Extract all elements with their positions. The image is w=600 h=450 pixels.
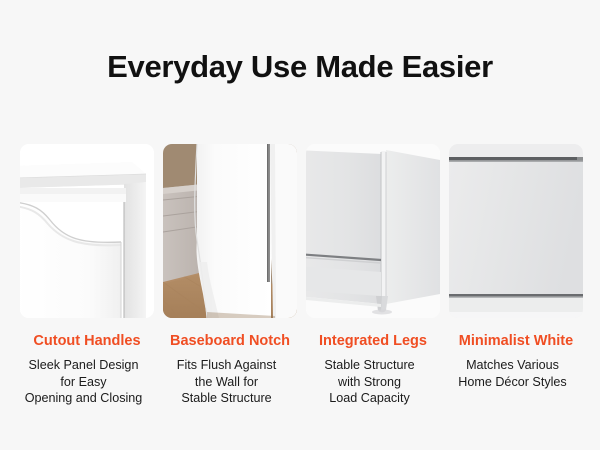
feature-card-title: Baseboard Notch: [170, 332, 290, 350]
minimalist-white-panel-photo: [449, 144, 583, 318]
feature-card-description: Fits Flush Againstthe Wall forStable Str…: [153, 357, 301, 407]
feature-card-baseboard-notch[interactable]: Baseboard Notch Fits Flush Againstthe Wa…: [163, 144, 297, 407]
desc-line: Sleek Panel Design: [29, 358, 139, 372]
feature-card-cutout-handles[interactable]: Cutout Handles Sleek Panel Designfor Eas…: [20, 144, 154, 407]
feature-card-title: Integrated Legs: [319, 332, 427, 350]
feature-card-integrated-legs[interactable]: Integrated Legs Stable Structurewith Str…: [306, 144, 440, 407]
feature-card-title: Cutout Handles: [33, 332, 140, 350]
feature-card-description: Stable Structurewith StrongLoad Capacity: [296, 357, 444, 407]
feature-card-title: Minimalist White: [459, 332, 573, 350]
desc-line: the Wall for: [195, 375, 258, 389]
feature-card-list: Cutout Handles Sleek Panel Designfor Eas…: [20, 144, 584, 407]
desc-line: Stable Structure: [324, 358, 414, 372]
desc-line: Opening and Closing: [25, 391, 143, 405]
feature-highlights-page: Everyday Use Made Easier: [0, 0, 600, 450]
baseboard-notch-cabinet-photo: [163, 144, 297, 318]
desc-line: Load Capacity: [329, 391, 410, 405]
desc-line: with Strong: [338, 375, 401, 389]
feature-card-description: Matches VariousHome Décor Styles: [439, 357, 587, 390]
feature-card-minimalist-white[interactable]: Minimalist White Matches VariousHome Déc…: [449, 144, 583, 407]
integrated-legs-cabinet-photo: [306, 144, 440, 318]
desc-line: for Easy: [60, 375, 106, 389]
desc-line: Matches Various: [466, 358, 559, 372]
feature-card-description: Sleek Panel Designfor EasyOpening and Cl…: [10, 357, 158, 407]
cutout-handle-cabinet-photo: [20, 144, 154, 318]
desc-line: Home Décor Styles: [458, 375, 566, 389]
page-title: Everyday Use Made Easier: [0, 48, 600, 86]
desc-line: Fits Flush Against: [177, 358, 276, 372]
desc-line: Stable Structure: [181, 391, 271, 405]
